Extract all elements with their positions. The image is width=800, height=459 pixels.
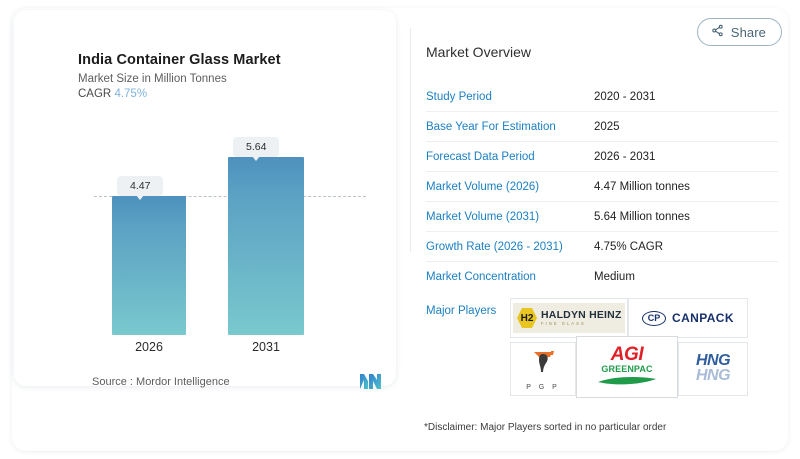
bar-value-label-2026: 4.47 xyxy=(117,176,163,196)
agi-sub-text: GREENPAC xyxy=(596,365,658,374)
panel-divider xyxy=(410,28,411,252)
x-tick-2031: 2031 xyxy=(226,340,306,354)
haldyn-heinz-logo-icon: H2 HALDYN HEINZ FINE GLASS xyxy=(513,303,625,333)
mordor-intelligence-logo-icon xyxy=(360,374,382,389)
canpack-mark: CP xyxy=(642,311,666,326)
table-row: Market Volume (2026) 4.47 Million tonnes xyxy=(426,172,778,202)
chart-title: India Container Glass Market xyxy=(78,52,281,68)
market-snapshot-page: Share India Container Glass Market Marke… xyxy=(0,0,800,459)
bar-chart-plot: 4.47 5.64 xyxy=(28,120,382,335)
row-value: Medium xyxy=(594,262,778,292)
pgp-logo-icon: P G P xyxy=(526,348,560,391)
table-row: Study Period 2020 - 2031 xyxy=(426,82,778,112)
overview-title: Market Overview xyxy=(426,44,776,60)
row-value: 2026 - 2031 xyxy=(594,142,778,172)
share-button-label: Share xyxy=(731,25,766,40)
logo-cell-haldyn-heinz: H2 HALDYN HEINZ FINE GLASS xyxy=(510,298,628,338)
canpack-name: CANPACK xyxy=(672,311,734,325)
haldyn-tagline: FINE GLASS xyxy=(541,322,622,326)
hng-logo-icon: HNG HNG xyxy=(696,354,730,383)
pgp-name: P G P xyxy=(526,384,560,391)
row-key: Market Volume (2031) xyxy=(426,202,594,232)
logo-cell-agi-greenpac: AGI GREENPAC xyxy=(576,336,678,398)
row-key: Forecast Data Period xyxy=(426,142,594,172)
bar-2026 xyxy=(112,196,186,335)
row-key: Study Period xyxy=(426,82,594,112)
row-value: 4.47 Million tonnes xyxy=(594,172,778,202)
chart-source: Source : Mordor Intelligence xyxy=(92,376,230,388)
chart-subtitle: Market Size in Million Tonnes xyxy=(78,73,281,85)
table-row: Market Volume (2031) 5.64 Million tonnes xyxy=(426,202,778,232)
chart-header: India Container Glass Market Market Size… xyxy=(78,52,281,100)
table-row: Base Year For Estimation 2025 xyxy=(426,112,778,142)
canpack-logo-icon: CP CANPACK xyxy=(642,311,734,326)
chart-card: India Container Glass Market Market Size… xyxy=(14,10,396,386)
overview-table: Study Period 2020 - 2031 Base Year For E… xyxy=(426,82,778,291)
haldyn-name: HALDYN HEINZ xyxy=(541,310,622,321)
haldyn-badge: H2 xyxy=(517,308,537,328)
table-row: Forecast Data Period 2026 - 2031 xyxy=(426,142,778,172)
source-prefix: Source : xyxy=(92,376,133,388)
table-row: Market Concentration Medium xyxy=(426,262,778,292)
row-key: Growth Rate (2026 - 2031) xyxy=(426,232,594,262)
share-nodes-icon xyxy=(711,24,724,40)
x-axis-labels: 2026 2031 xyxy=(28,340,382,360)
logo-cell-pgp: P G P xyxy=(510,342,576,396)
row-value: 4.75% CAGR xyxy=(594,232,778,262)
row-value: 5.64 Million tonnes xyxy=(594,202,778,232)
row-key: Market Volume (2026) xyxy=(426,172,594,202)
chart-cagr-label: CAGR xyxy=(78,88,111,100)
players-disclaimer: *Disclaimer: Major Players sorted in no … xyxy=(424,422,666,433)
row-value: 2025 xyxy=(594,112,778,142)
share-button[interactable]: Share xyxy=(697,18,782,46)
chart-source-row: Source : Mordor Intelligence xyxy=(92,374,382,389)
bar-2031 xyxy=(228,157,304,335)
logo-cell-canpack: CP CANPACK xyxy=(628,298,748,338)
row-value: 2020 - 2031 xyxy=(594,82,778,112)
bar-value-label-2031: 5.64 xyxy=(233,137,279,157)
x-tick-2026: 2026 xyxy=(109,340,189,354)
row-key: Market Concentration xyxy=(426,262,594,292)
chart-cagr-value: 4.75% xyxy=(114,88,147,100)
chart-cagr: CAGR 4.75% xyxy=(78,88,281,100)
table-row: Growth Rate (2026 - 2031) 4.75% CAGR xyxy=(426,232,778,262)
agi-main-text: AGI xyxy=(596,345,658,364)
hng-bottom-text: HNG xyxy=(696,369,730,384)
source-name: Mordor Intelligence xyxy=(136,376,230,388)
major-players-logo-grid: H2 HALDYN HEINZ FINE GLASS CP CANPACK xyxy=(506,298,752,398)
logo-cell-hng: HNG HNG xyxy=(678,342,748,396)
agi-greenpac-logo-icon: AGI GREENPAC xyxy=(596,345,658,390)
market-overview-panel: Market Overview Study Period 2020 - 2031… xyxy=(426,44,776,317)
row-key: Base Year For Estimation xyxy=(426,112,594,142)
